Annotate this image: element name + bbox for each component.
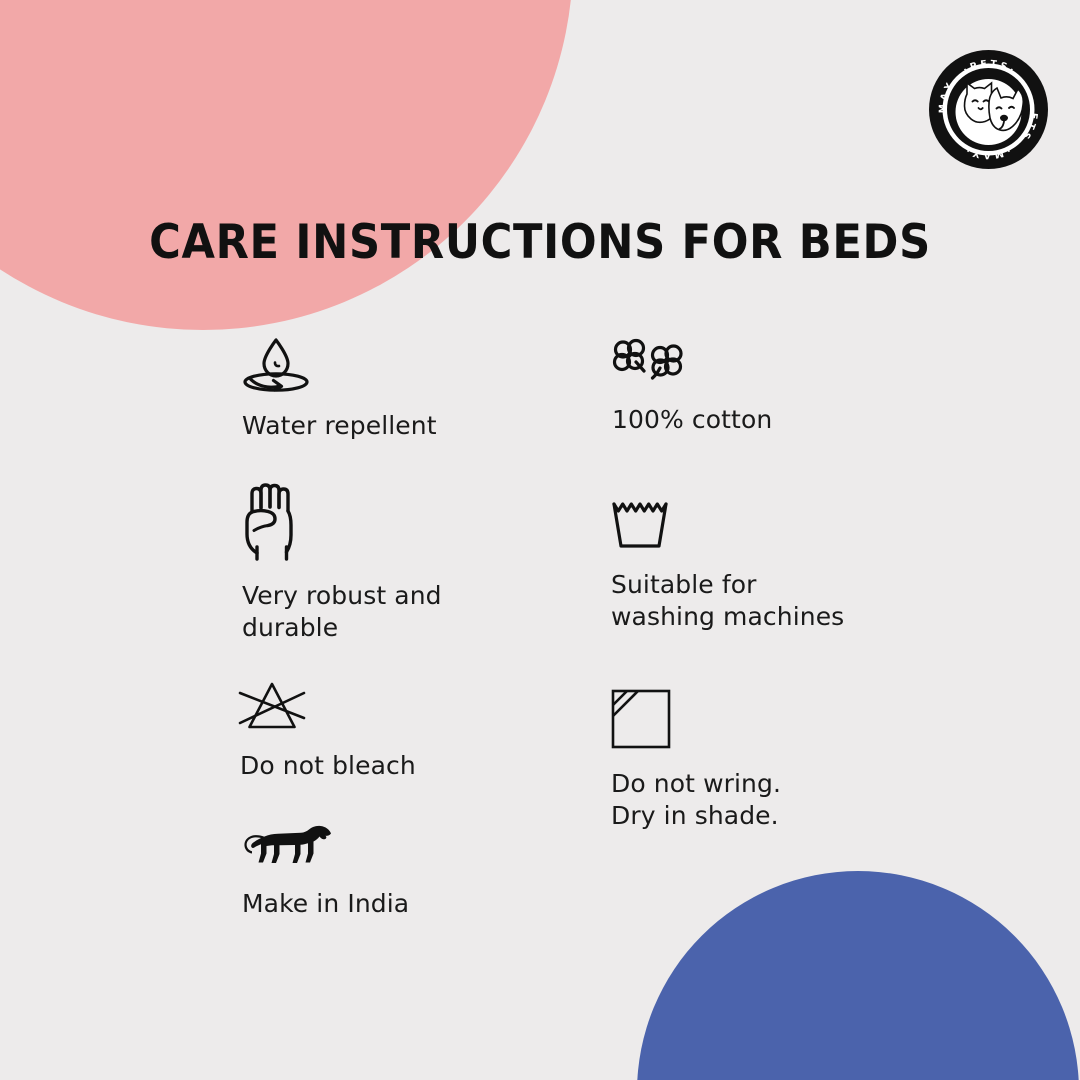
feature-do-not-wring-dry-in-shade: Do not wring. Dry in shade.	[610, 688, 781, 833]
feature-label: Suitable for washing machines	[611, 569, 844, 634]
make-in-india-lion-icon	[240, 821, 409, 869]
do-not-bleach-triangle-icon	[232, 678, 416, 734]
feature-label: Water repellent	[242, 410, 437, 442]
feature-make-in-india: Make in India	[240, 821, 409, 920]
page-title: CARE INSTRUCTIONS FOR BEDS	[43, 215, 1037, 270]
washing-machine-tub-icon	[610, 499, 844, 551]
blue-decorative-circle	[637, 871, 1079, 1080]
feature-label: 100% cotton	[612, 404, 772, 436]
feature-robust-durable: Very robust and durable	[238, 481, 442, 645]
pink-decorative-circle	[0, 0, 573, 330]
dry-in-shade-square-icon	[610, 688, 781, 750]
cotton-boll-icon	[610, 338, 772, 382]
feature-water-repellent: Water repellent	[238, 336, 437, 442]
feature-cotton: 100% cotton	[610, 338, 772, 436]
feature-washing-machine: Suitable for washing machines	[610, 499, 844, 634]
fist-strength-icon	[238, 481, 442, 563]
feature-label: Do not bleach	[240, 750, 416, 782]
water-droplet-repellent-icon	[238, 336, 437, 392]
feature-label: Make in India	[242, 888, 409, 920]
cat-and-dog-logo-icon: · P E T S · · M A Y · M A Y P E T S	[929, 50, 1048, 169]
care-instructions-poster: · P E T S · · M A Y · M A Y P E T S CARE…	[0, 0, 1080, 1080]
feature-label: Do not wring. Dry in shade.	[611, 768, 781, 833]
feature-do-not-bleach: Do not bleach	[232, 678, 416, 782]
brand-logo: · P E T S · · M A Y · M A Y P E T S	[929, 50, 1048, 169]
feature-label: Very robust and durable	[242, 580, 442, 645]
